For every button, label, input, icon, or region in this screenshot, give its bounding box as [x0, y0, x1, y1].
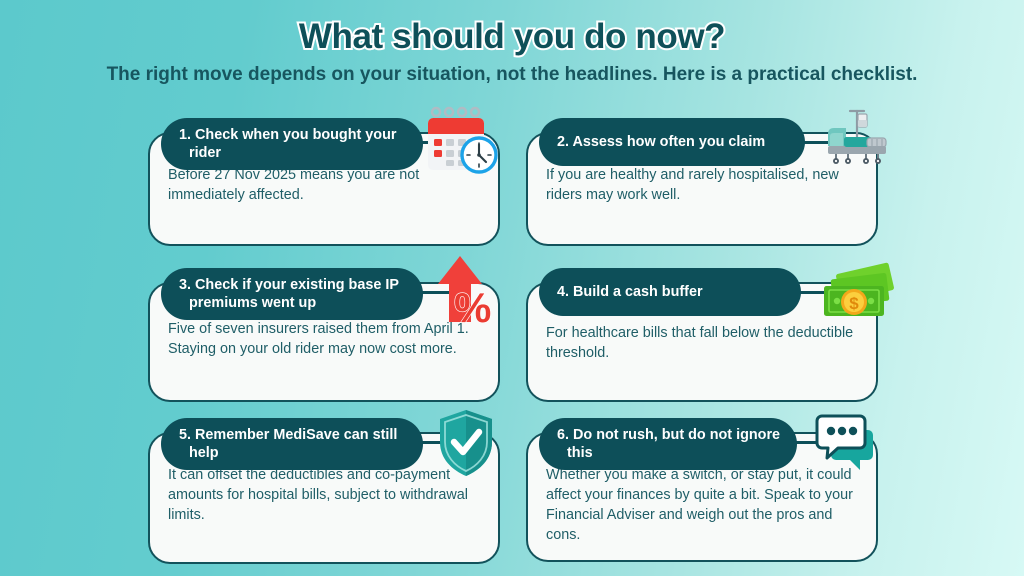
card-heading: Check if your existing base IP premiums … — [189, 277, 399, 311]
card-heading: Build a cash buffer — [573, 284, 703, 300]
card-number: 5. — [179, 427, 191, 443]
card-heading-pill[interactable]: 5. Remember MediSave can still help — [161, 418, 423, 470]
card-body-text: If you are healthy and rarely hospitalis… — [546, 166, 864, 206]
card-number: 4. — [557, 284, 569, 300]
card-heading: Remember MediSave can still help — [189, 427, 397, 461]
card-heading-pill[interactable]: 2. Assess how often you claim — [539, 118, 805, 166]
card-number: 2. — [557, 134, 569, 150]
page-subtitle: The right move depends on your situation… — [0, 63, 1024, 86]
checklist-row-3: 5. Remember MediSave can still help It c… — [148, 418, 878, 576]
card-heading: Assess how often you claim — [572, 134, 765, 150]
checklist-row-1: 1. Check when you bought your rider Befo… — [148, 118, 878, 268]
page-title: What should you do now? — [0, 18, 1024, 55]
card-heading-pill[interactable]: 6. Do not rush, but do not ignore this — [539, 418, 797, 470]
shield-check-icon — [432, 406, 500, 482]
card-number: 3. — [179, 277, 191, 293]
hospital-bed-icon — [814, 104, 898, 170]
svg-text:$: $ — [849, 294, 859, 313]
card-number: 1. — [179, 127, 191, 143]
card-heading: Do not rush, but do not ignore this — [567, 427, 780, 461]
card-heading-pill[interactable]: 1. Check when you bought your rider — [161, 118, 423, 170]
card-heading: Check when you bought your rider — [189, 127, 397, 161]
header: What should you do now? The right move d… — [0, 18, 1024, 86]
percent-up-arrow-icon: % — [430, 252, 502, 338]
calendar-clock-icon — [420, 110, 504, 182]
card-heading-pill[interactable]: 3. Check if your existing base IP premiu… — [161, 268, 423, 320]
speech-bubble-icon — [810, 408, 886, 478]
svg-text:%: % — [454, 284, 491, 331]
checklist-grid: 1. Check when you bought your rider Befo… — [148, 118, 878, 576]
checklist-row-2: 3. Check if your existing base IP premiu… — [148, 268, 878, 418]
infographic-canvas: What should you do now? The right move d… — [0, 0, 1024, 576]
card-heading-pill[interactable]: 4. Build a cash buffer — [539, 268, 801, 316]
cash-money-icon: $ — [812, 264, 898, 332]
card-number: 6. — [557, 427, 569, 443]
